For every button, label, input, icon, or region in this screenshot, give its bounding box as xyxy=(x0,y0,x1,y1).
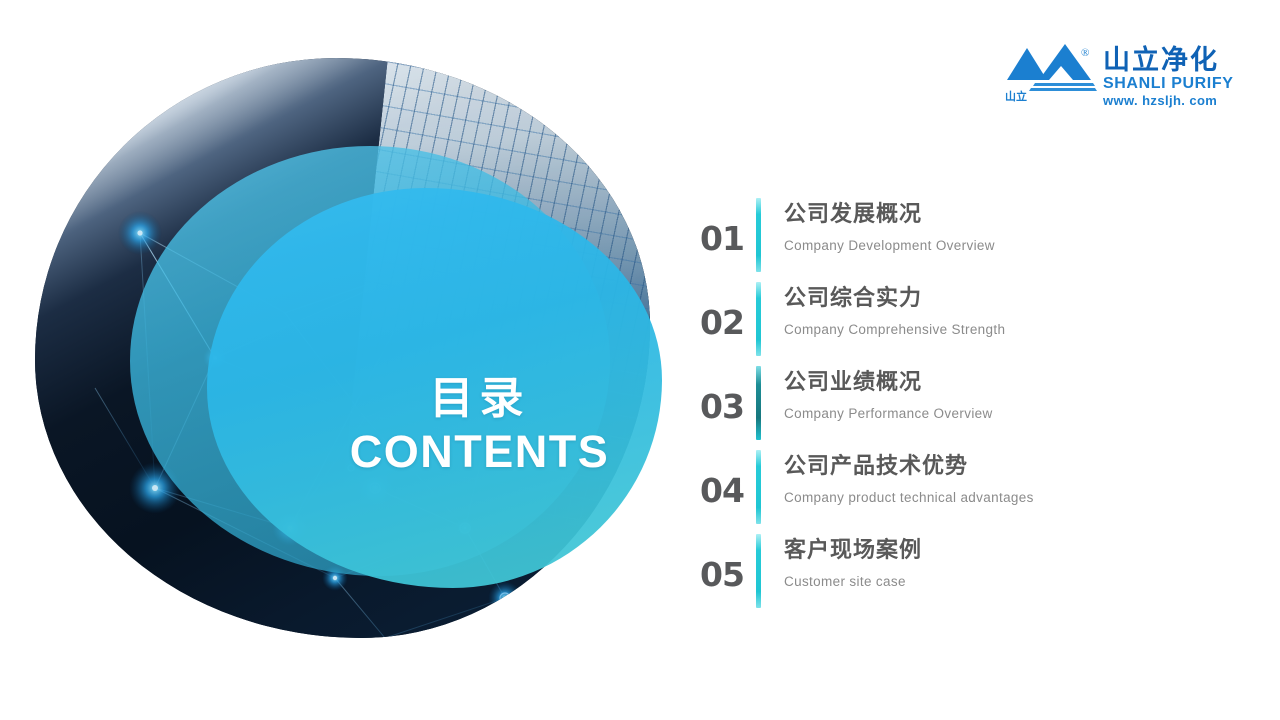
logo-website: www. hzsljh. com xyxy=(1103,94,1233,108)
logo-name-chinese: 山立净化 xyxy=(1103,46,1233,74)
item-accent-bar xyxy=(756,282,761,356)
item-text-group: 公司产品技术优势 Company product technical advan… xyxy=(784,448,1240,506)
item-text-group: 公司业绩概况 Company Performance Overview xyxy=(784,364,1240,422)
item-number: 03 xyxy=(700,364,756,423)
list-item[interactable]: 02 公司综合实力 Company Comprehensive Strength xyxy=(700,280,1240,364)
item-text-group: 公司发展概况 Company Development Overview xyxy=(784,196,1240,254)
mountain-logo-icon: ® 山立 xyxy=(1005,42,1097,110)
decorative-artwork: 目录 CONTENTS xyxy=(35,58,650,638)
item-subtitle: Company Comprehensive Strength xyxy=(784,321,1240,339)
item-subtitle: Company product technical advantages xyxy=(784,489,1240,507)
item-text-group: 客户现场案例 Customer site case xyxy=(784,532,1240,590)
item-title: 公司产品技术优势 xyxy=(784,452,1240,480)
item-title: 客户现场案例 xyxy=(784,536,1240,564)
item-subtitle: Company Development Overview xyxy=(784,237,1240,255)
item-accent-bar xyxy=(756,366,761,440)
logo-mark-caption: 山立 xyxy=(1005,92,1027,103)
item-title: 公司综合实力 xyxy=(784,284,1240,312)
item-accent-bar xyxy=(756,198,761,272)
registered-trademark-icon: ® xyxy=(1081,48,1089,59)
item-text-group: 公司综合实力 Company Comprehensive Strength xyxy=(784,280,1240,338)
logo-text-group: 山立净化 SHANLI PURIFY www. hzsljh. com xyxy=(1103,42,1233,108)
item-accent-bar xyxy=(756,450,761,524)
table-of-contents: 01 公司发展概况 Company Development Overview 0… xyxy=(700,196,1240,616)
contents-slide: 目录 CONTENTS ® 山立 山立净化 SHANLI PURIFY www.… xyxy=(0,0,1280,720)
item-subtitle: Company Performance Overview xyxy=(784,405,1240,423)
item-title: 公司业绩概况 xyxy=(784,368,1240,396)
list-item[interactable]: 01 公司发展概况 Company Development Overview xyxy=(700,196,1240,280)
item-number: 01 xyxy=(700,196,756,255)
logo-name-english: SHANLI PURIFY xyxy=(1103,75,1233,93)
list-item[interactable]: 05 客户现场案例 Customer site case xyxy=(700,532,1240,616)
item-accent-bar xyxy=(756,534,761,608)
item-number: 05 xyxy=(700,532,756,591)
company-logo: ® 山立 山立净化 SHANLI PURIFY www. hzsljh. com xyxy=(1005,42,1235,114)
list-item[interactable]: 03 公司业绩概况 Company Performance Overview xyxy=(700,364,1240,448)
list-item[interactable]: 04 公司产品技术优势 Company product technical ad… xyxy=(700,448,1240,532)
item-title: 公司发展概况 xyxy=(784,200,1240,228)
item-number: 04 xyxy=(700,448,756,507)
item-number: 02 xyxy=(700,280,756,339)
item-subtitle: Customer site case xyxy=(784,573,1240,591)
